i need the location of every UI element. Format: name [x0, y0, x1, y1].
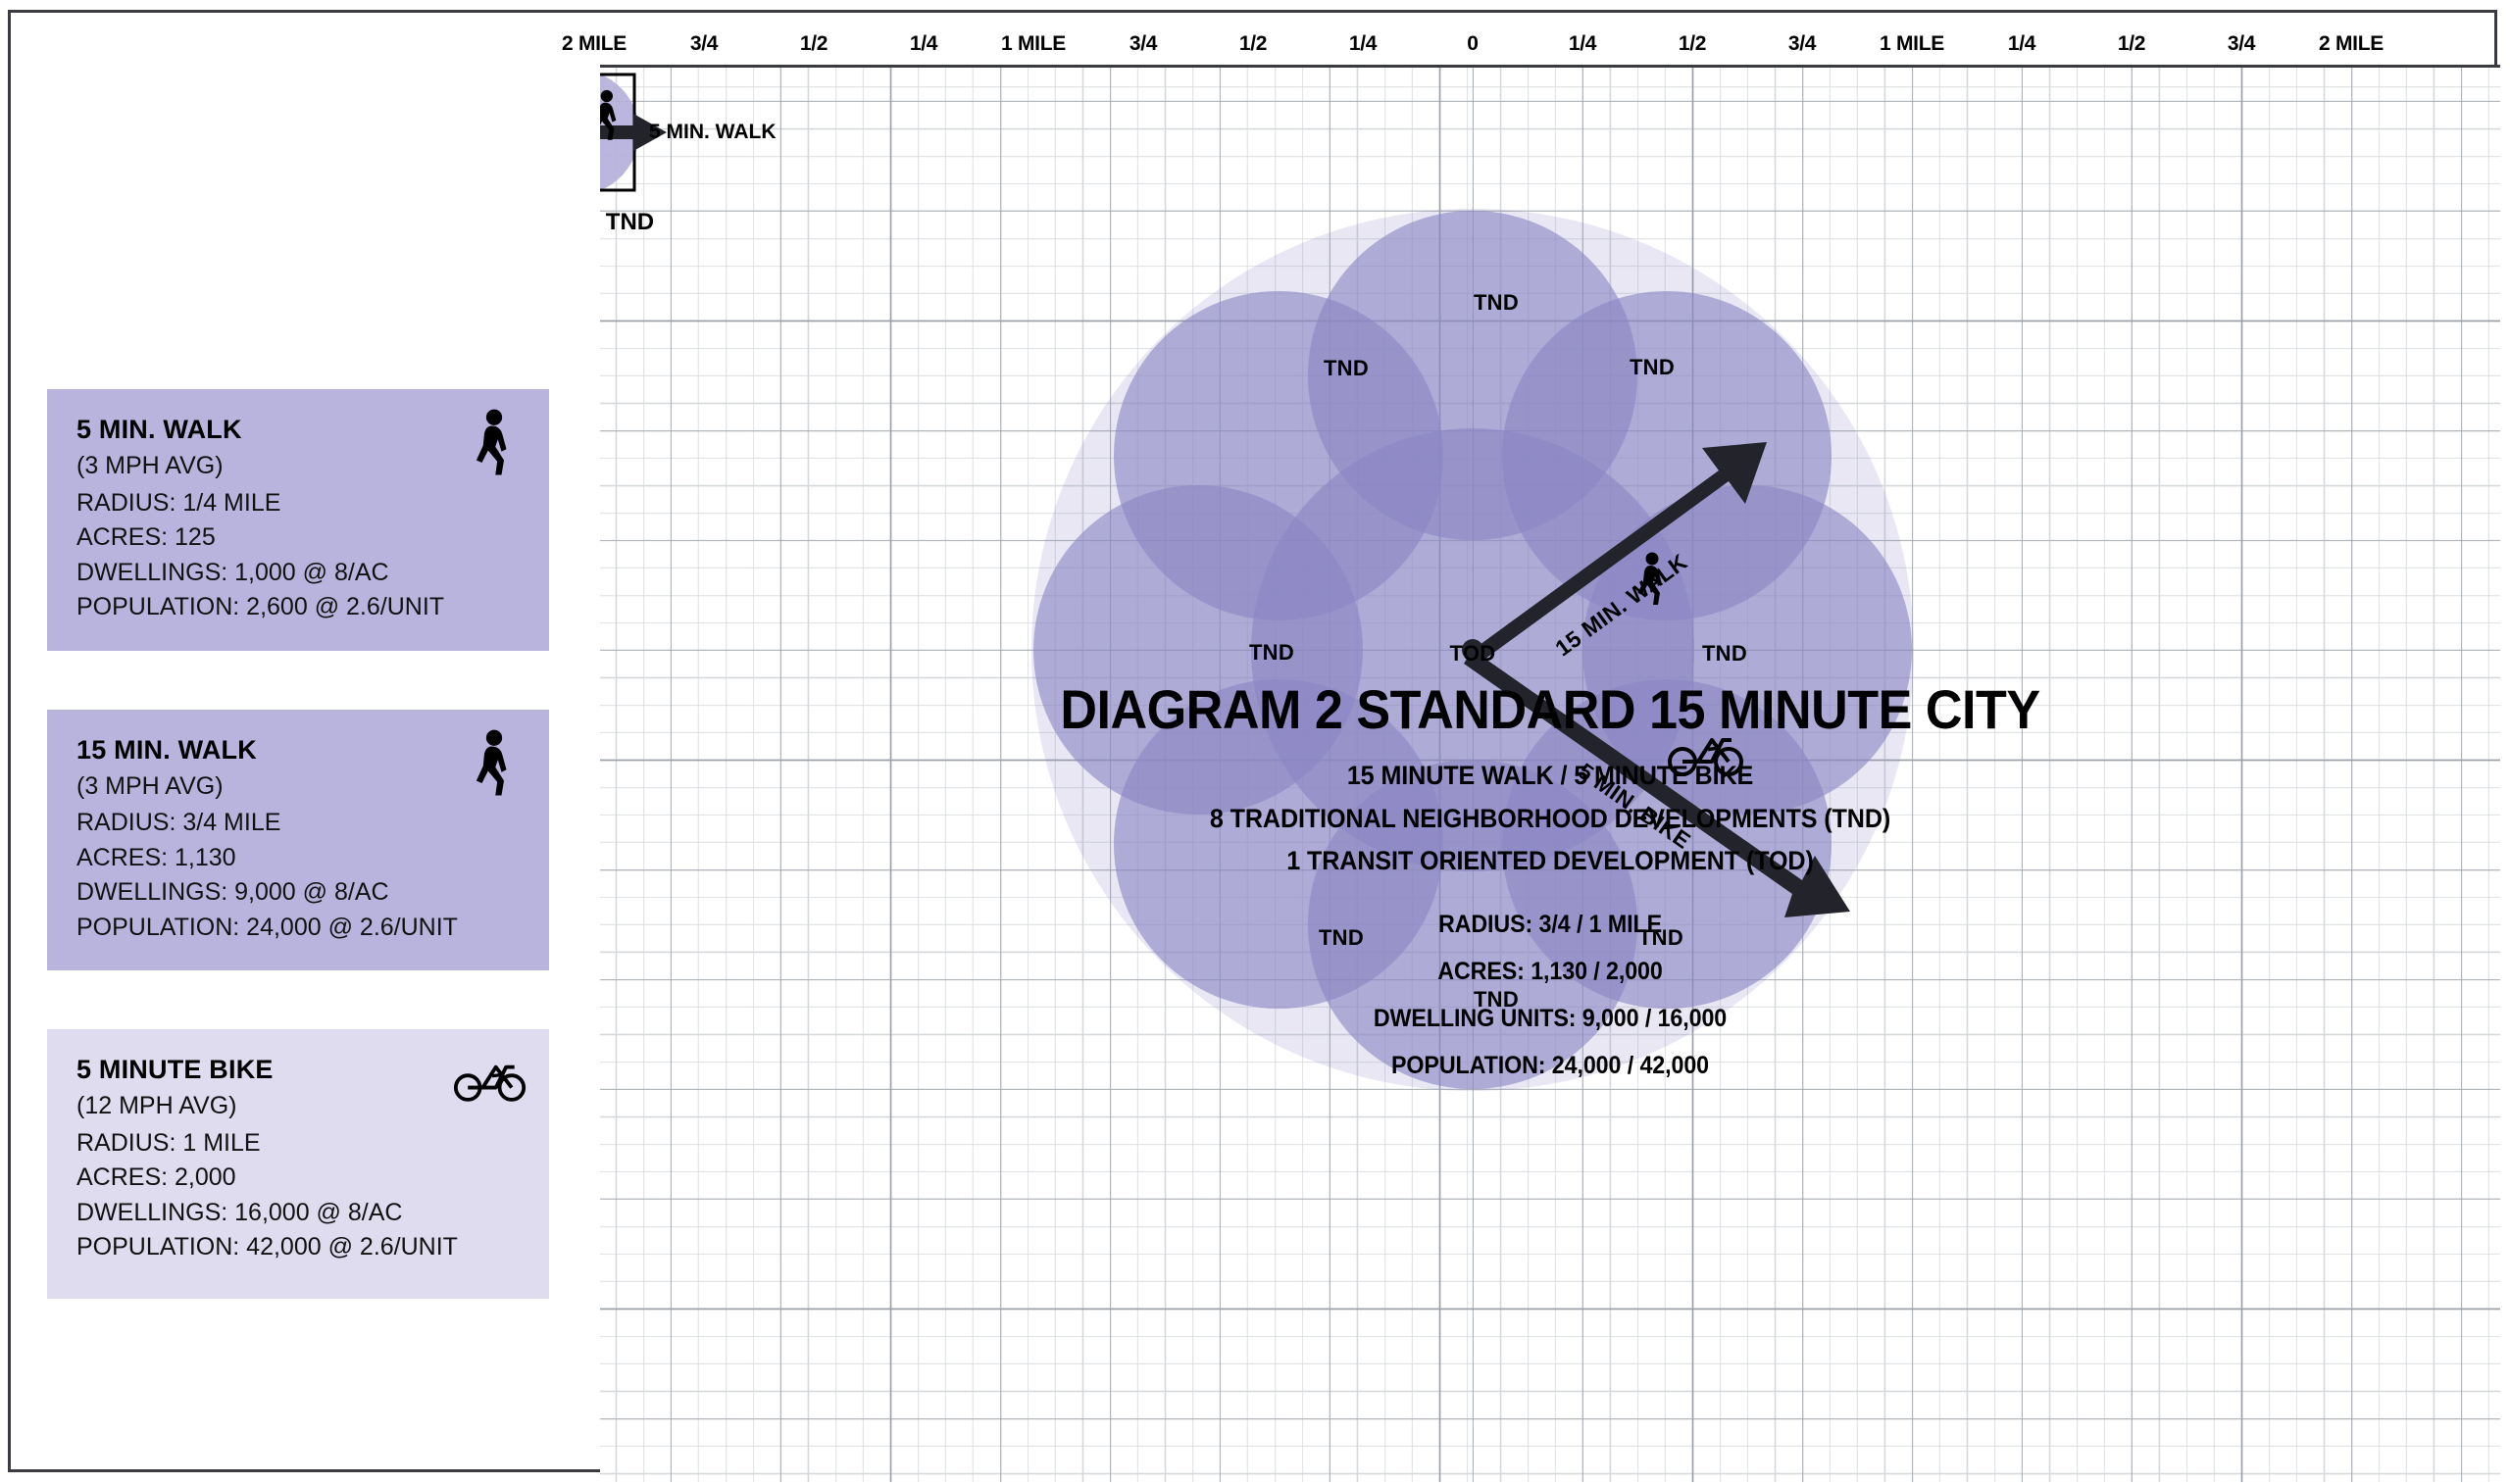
title-line-upper-0: 15 MINUTE WALK / 5 MINUTE BIKE [667, 755, 2434, 798]
ruler-tick-4: 1 MILE [1001, 32, 1066, 56]
map-label-tod: TOD [1450, 641, 1496, 667]
legend-card-title: 15 MIN. WALK [76, 735, 520, 766]
ruler-tick-8: 0 [1467, 32, 1478, 56]
map-label-tnd-w: TND [1249, 640, 1294, 666]
legend-card-dwellings: DWELLINGS: 9,000 @ 8/AC [76, 875, 520, 911]
title-line-upper-1: 8 TRADITIONAL NEIGHBORHOOD DEVELOPMENTS … [667, 798, 2434, 841]
title-line-lower-2: DWELLING UNITS: 9,000 / 16,000 [667, 995, 2434, 1042]
ruler-tick-0: 2 MILE [562, 32, 627, 56]
legend-card-radius: RADIUS: 3/4 MILE [76, 806, 520, 841]
title-line-upper-2: 1 TRANSIT ORIENTED DEVELOPMENT (TOD) [667, 840, 2434, 883]
legend-card-radius: RADIUS: 1/4 MILE [76, 486, 520, 521]
legend-card-dwellings: DWELLINGS: 16,000 @ 8/AC [76, 1196, 520, 1231]
ruler-tick-5: 3/4 [1129, 32, 1157, 56]
pedestrian-icon [455, 729, 524, 798]
legend-card-dwellings: DWELLINGS: 1,000 @ 8/AC [76, 556, 520, 591]
legend-card-0: 5 MIN. WALK(3 MPH AVG)RADIUS: 1/4 MILEAC… [47, 389, 549, 651]
title-line-lower-0: RADIUS: 3/4 / 1 MILE [667, 901, 2434, 948]
legend-card-2: 5 MINUTE BIKE(12 MPH AVG)RADIUS: 1 MILEA… [47, 1029, 549, 1299]
title-upper-lines: 15 MINUTE WALK / 5 MINUTE BIKE8 TRADITIO… [600, 755, 2500, 883]
inset-walk-arrow-label: 5 MIN. WALK [649, 121, 777, 144]
ruler-tick-7: 1/4 [1349, 32, 1377, 56]
inset-caption: TYPICAL TND [600, 209, 654, 236]
ruler-tick-10: 1/2 [1679, 32, 1706, 56]
ruler-tick-6: 1/2 [1239, 32, 1267, 56]
scale-ruler: 2 MILE3/41/21/41 MILE3/41/21/401/41/23/4… [600, 23, 2494, 67]
diagram-frame: 2 MILE3/41/21/41 MILE3/41/21/401/41/23/4… [8, 10, 2497, 1472]
pedestrian-icon [455, 409, 524, 477]
title-line-lower-1: ACRES: 1,130 / 2,000 [667, 948, 2434, 995]
ruler-tick-9: 1/4 [1569, 32, 1596, 56]
pedestrian-icon-inset [600, 89, 622, 142]
legend-card-acres: ACRES: 125 [76, 520, 520, 556]
map-label-tnd-e: TND [1702, 641, 1747, 667]
ruler-tick-11: 3/4 [1788, 32, 1816, 56]
map-label-tnd-nw: TND [1324, 356, 1369, 381]
bicycle-icon [453, 1055, 527, 1104]
map-canvas: TOD TND TND TND TND TND TND TND TND 15 M… [600, 68, 2500, 1482]
legend-card-population: POPULATION: 24,000 @ 2.6/UNIT [76, 911, 520, 946]
legend-card-population: POPULATION: 42,000 @ 2.6/UNIT [76, 1230, 520, 1265]
legend-card-1: 15 MIN. WALK(3 MPH AVG)RADIUS: 3/4 MILEA… [47, 710, 549, 971]
legend-card-speed: (3 MPH AVG) [76, 449, 520, 484]
legend-card-acres: ACRES: 2,000 [76, 1161, 520, 1196]
ruler-tick-15: 3/4 [2228, 32, 2255, 56]
legend-panel: 5 MIN. WALK(3 MPH AVG)RADIUS: 1/4 MILEAC… [47, 389, 549, 1358]
legend-card-radius: RADIUS: 1 MILE [76, 1126, 520, 1162]
ruler-tick-13: 1/4 [2008, 32, 2035, 56]
map-label-tnd-ne: TND [1630, 355, 1675, 380]
map-label-tnd-n: TND [1474, 290, 1519, 316]
legend-card-population: POPULATION: 2,600 @ 2.6/UNIT [76, 590, 520, 625]
diagram-title: DIAGRAM 2 STANDARD 15 MINUTE CITY [667, 681, 2434, 739]
title-block: DIAGRAM 2 STANDARD 15 MINUTE CITY 15 MIN… [600, 681, 2500, 1089]
legend-card-speed: (3 MPH AVG) [76, 769, 520, 805]
ruler-tick-14: 1/2 [2118, 32, 2145, 56]
ruler-tick-12: 1 MILE [1880, 32, 1944, 56]
ruler-tick-2: 1/2 [800, 32, 828, 56]
legend-card-acres: ACRES: 1,130 [76, 841, 520, 876]
ruler-tick-3: 1/4 [910, 32, 937, 56]
ruler-tick-1: 3/4 [690, 32, 718, 56]
ruler-tick-16: 2 MILE [2319, 32, 2384, 56]
title-lower-lines: RADIUS: 3/4 / 1 MILEACRES: 1,130 / 2,000… [600, 901, 2500, 1089]
title-line-lower-3: POPULATION: 24,000 / 42,000 [667, 1042, 2434, 1089]
legend-card-title: 5 MIN. WALK [76, 415, 520, 445]
